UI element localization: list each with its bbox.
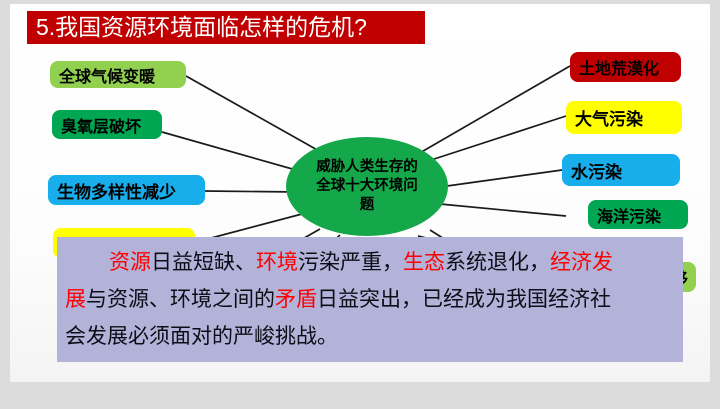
summary-t1: 日益短缺、: [151, 251, 256, 274]
label-marine-pollution-text: 海洋污染: [597, 203, 661, 227]
summary-hl-zhan: 展: [65, 288, 86, 311]
summary-line-1: 资源日益短缺、环境污染严重，生态系统退化，经济发: [65, 244, 675, 281]
summary-line-2: 展与资源、环境之间的矛盾日益突出，已经成为我国经济社: [65, 281, 675, 318]
label-air-pollution-text: 大气污染: [575, 105, 643, 130]
label-water-pollution[interactable]: 水污染: [562, 154, 680, 186]
summary-t3: 系统退化，: [445, 251, 550, 274]
label-biodiversity-loss-text: 生物多样性减少: [57, 178, 176, 203]
summary-hl-jingjifa: 经济发: [550, 251, 613, 274]
label-desertification[interactable]: 土地荒漠化: [570, 52, 681, 82]
summary-hl-huanjing: 环境: [256, 251, 298, 274]
summary-line-3: 会发展必须面对的严峻挑战。: [65, 318, 675, 355]
label-biodiversity-loss[interactable]: 生物多样性减少: [48, 175, 205, 205]
center-node-label: 威胁人类生存的全球十大环境问题: [313, 158, 421, 215]
summary-textbox: 资源日益短缺、环境污染严重，生态系统退化，经济发 展与资源、环境之间的矛盾日益突…: [57, 237, 683, 362]
summary-t2: 污染严重，: [298, 251, 403, 274]
label-marine-pollution[interactable]: 海洋污染: [588, 200, 688, 229]
slide-root: 5.我国资源环境面临怎样的危机?: [0, 0, 720, 405]
label-desertification-text: 土地荒漠化: [579, 55, 659, 79]
center-node[interactable]: 威胁人类生存的全球十大环境问题: [286, 137, 448, 236]
label-global-warming[interactable]: 全球气候变暖: [50, 61, 186, 88]
label-air-pollution[interactable]: 大气污染: [566, 101, 682, 134]
label-global-warming-text: 全球气候变暖: [59, 63, 155, 87]
label-ozone-depletion[interactable]: 臭氧层破坏: [52, 110, 162, 139]
summary-hl-maodun: 矛盾: [275, 288, 317, 311]
summary-hl-shengtai: 生态: [403, 251, 445, 274]
summary-t5: 日益突出，已经成为我国经济社: [317, 288, 611, 311]
label-water-pollution-text: 水污染: [571, 158, 622, 183]
summary-t4: 与资源、环境之间的: [86, 288, 275, 311]
label-ozone-depletion-text: 臭氧层破坏: [61, 113, 141, 137]
summary-hl-ziyuan: 资源: [109, 251, 151, 274]
slide-canvas: 5.我国资源环境面临怎样的危机?: [10, 4, 710, 382]
